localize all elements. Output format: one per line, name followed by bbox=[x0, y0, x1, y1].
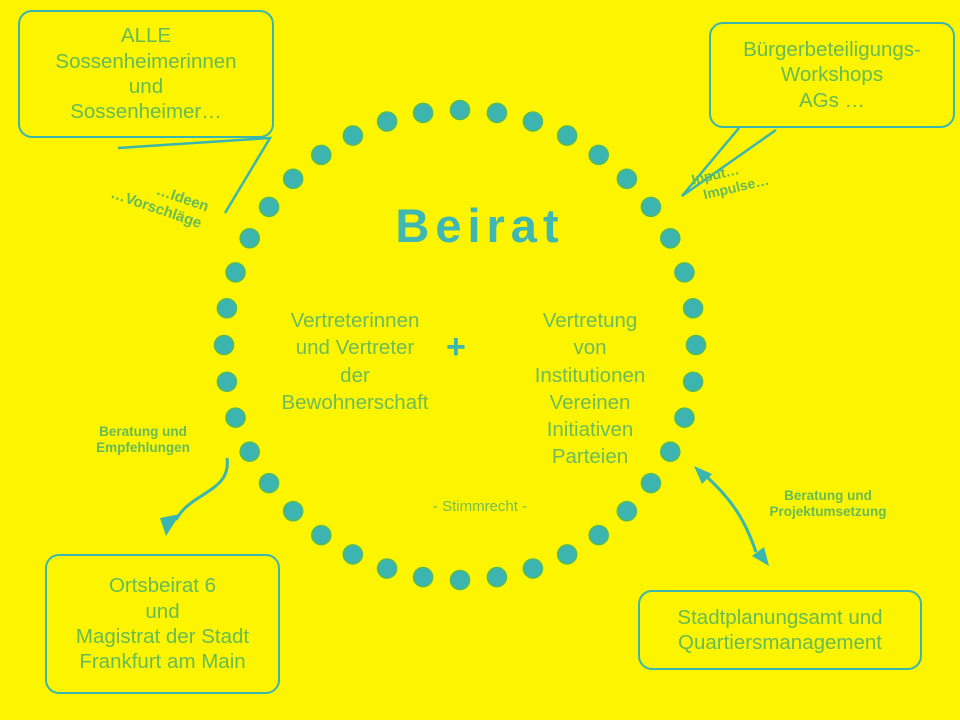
citizens-line-4: Sossenheimer… bbox=[28, 99, 264, 124]
ortsbeirat-line-4: Frankfurt am Main bbox=[55, 649, 270, 674]
beratung-empfehlungen-arrow bbox=[176, 458, 227, 520]
beratung-projektumsetzung-arrowhead-up bbox=[694, 466, 712, 484]
box-stadtplanungsamt-quartiersmanagement[interactable]: Stadtplanungsamt und Quartiersmanagement bbox=[638, 590, 922, 670]
stadtplanung-line-2: Quartiersmanagement bbox=[648, 630, 912, 655]
citizens-line-1: ALLE bbox=[28, 23, 264, 48]
citizens-line-3: und bbox=[28, 74, 264, 99]
tag-beratung-rechts-line-2: Projektumsetzung bbox=[769, 504, 886, 519]
tag-beratung-links-line-2: Empfehlungen bbox=[96, 440, 190, 455]
workshops-line-1: Bürgerbeteiligungs- bbox=[719, 37, 945, 62]
box-ortsbeirat-magistrat[interactable]: Ortsbeirat 6 und Magistrat der Stadt Fra… bbox=[45, 554, 280, 694]
tag-beratung-projektumsetzung: Beratung und Projektumsetzung bbox=[748, 488, 908, 521]
workshops-line-2: Workshops bbox=[719, 62, 945, 87]
ortsbeirat-line-3: Magistrat der Stadt bbox=[55, 624, 270, 649]
stadtplanung-line-1: Stadtplanungsamt und bbox=[648, 605, 912, 630]
ortsbeirat-line-2: und bbox=[55, 599, 270, 624]
diagram-canvas: Beirat Vertreterinnen und Vertreter der … bbox=[0, 0, 960, 720]
bubble-buergerbeteiligungs-workshops[interactable]: Bürgerbeteiligungs- Workshops AGs … bbox=[709, 22, 955, 128]
workshops-line-3: AGs … bbox=[719, 88, 945, 113]
citizens-line-2: Sossenheimerinnen bbox=[28, 49, 264, 74]
tag-beratung-empfehlungen: Beratung und Empfehlungen bbox=[78, 424, 208, 457]
bubble-alle-sossenheimer[interactable]: ALLE Sossenheimerinnen und Sossenheimer… bbox=[18, 10, 274, 138]
ortsbeirat-line-1: Ortsbeirat 6 bbox=[55, 573, 270, 598]
tag-beratung-rechts-line-1: Beratung und bbox=[784, 488, 872, 503]
beratung-empfehlungen-arrowhead bbox=[160, 514, 180, 536]
tag-beratung-links-line-1: Beratung und bbox=[99, 424, 187, 439]
